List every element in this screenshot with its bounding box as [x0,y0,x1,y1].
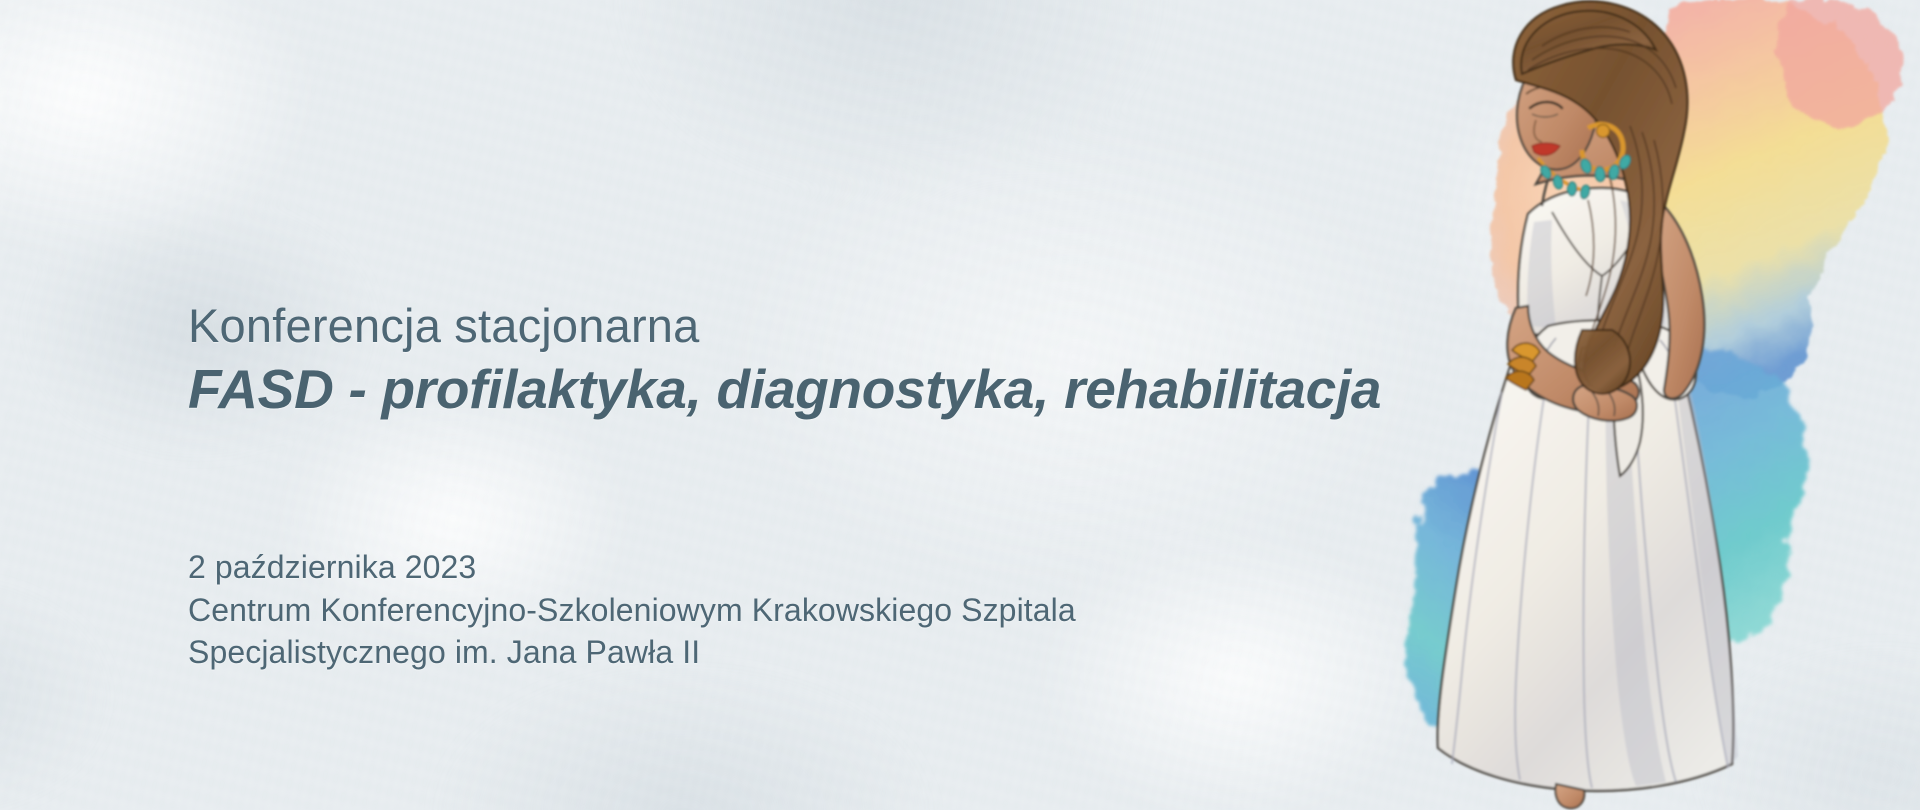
conference-title: FASD - profilaktyka, diagnostyka, rehabi… [188,359,1438,420]
conference-eyebrow: Konferencja stacjonarna [188,300,1438,353]
headline-block: Konferencja stacjonarna FASD - profilakt… [188,300,1438,419]
conference-details-block: 2 października 2023 Centrum Konferencyjn… [188,546,1388,674]
conference-date: 2 października 2023 [188,546,1388,589]
conference-venue-line-1: Centrum Konferencyjno-Szkoleniowym Krako… [188,589,1388,632]
conference-banner: Konferencja stacjonarna FASD - profilakt… [0,0,1920,810]
conference-venue-line-2: Specjalistycznego im. Jana Pawła II [188,631,1388,674]
